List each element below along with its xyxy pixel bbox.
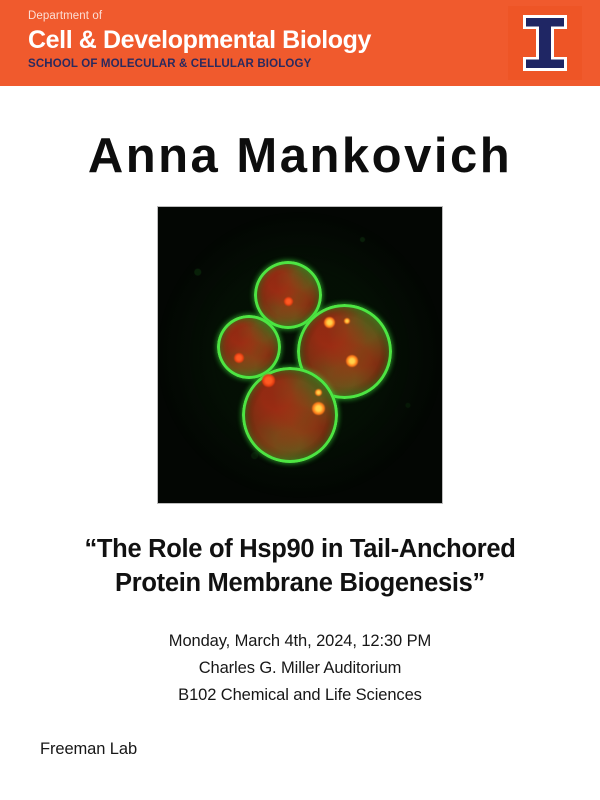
talk-title-line-1: “The Role of Hsp90 in Tail-Anchored (30, 532, 570, 566)
event-datetime: Monday, March 4th, 2024, 12:30 PM (40, 628, 560, 655)
block-i-icon (522, 14, 568, 72)
event-building: B102 Chemical and Life Sciences (40, 682, 560, 709)
illinois-block-i-logo (508, 6, 582, 80)
lab-name: Freeman Lab (40, 740, 137, 759)
micrograph-image (157, 206, 443, 504)
punctum-left-cell (234, 353, 244, 363)
department-eyebrow: Department of (28, 9, 371, 24)
yeast-cell-bottom (242, 367, 338, 463)
punctum-bottom-bright (312, 402, 325, 415)
department-header-band: Department of Cell & Developmental Biolo… (0, 0, 600, 86)
talk-title: “The Role of Hsp90 in Tail-Anchored Prot… (30, 532, 570, 600)
micrograph-figure (157, 206, 443, 504)
school-name: SCHOOL OF MOLECULAR & CELLULAR BIOLOGY (28, 57, 371, 71)
header-text-block: Department of Cell & Developmental Biolo… (28, 9, 371, 71)
punctum-right-small (344, 318, 350, 324)
punctum-top-cell (284, 297, 293, 306)
punctum-bottom-small (315, 389, 322, 396)
speaker-name: Anna Mankovich (0, 86, 600, 184)
talk-title-line-2: Protein Membrane Biogenesis” (30, 566, 570, 600)
department-name: Cell & Developmental Biology (28, 25, 371, 55)
punctum-bottom-upper (262, 374, 275, 387)
event-details: Monday, March 4th, 2024, 12:30 PM Charle… (40, 628, 560, 709)
punctum-right-center (346, 355, 358, 367)
punctum-right-upper (324, 317, 335, 328)
event-venue: Charles G. Miller Auditorium (40, 655, 560, 682)
